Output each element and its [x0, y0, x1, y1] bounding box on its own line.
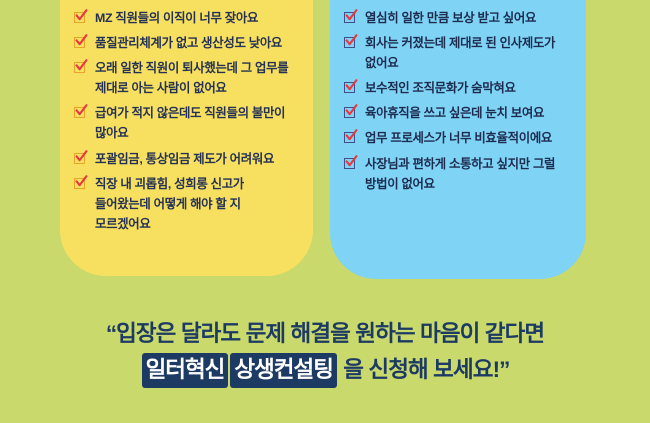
employee-concerns-panel: 열심히 일한 만큼 보상 받고 싶어요 회사는 커졌는데 제대로 된 인사제도가…: [330, 0, 586, 279]
quote-line-1: “입장은 달라도 문제 해결을 원하는 마음이 같다면: [0, 318, 650, 350]
list-item: 회사는 커졌는데 제대로 된 인사제도가 없어요: [344, 33, 572, 73]
checkbox-checked-icon: [74, 61, 88, 75]
quote-line-2-text: 을 신청해 보세요!: [343, 357, 499, 382]
program-name-highlight-2: 상생컨설팅: [230, 353, 337, 388]
list-item: 업무 프로세스가 너무 비효율적이에요: [344, 128, 572, 148]
employee-concerns-list: 열심히 일한 만큼 보상 받고 싶어요 회사는 커졌는데 제대로 된 인사제도가…: [344, 8, 572, 194]
checkbox-checked-icon: [344, 131, 358, 145]
list-item: 열심히 일한 만큼 보상 받고 싶어요: [344, 8, 572, 28]
list-item: MZ 직원들의 이직이 너무 잦아요: [74, 8, 299, 28]
employer-concerns-panel: MZ 직원들의 이직이 너무 잦아요 품질관리체계가 없고 생산성도 낮아요 오…: [60, 0, 313, 276]
program-name-highlight-1: 일터혁신: [142, 353, 229, 388]
list-item-label: 업무 프로세스가 너무 비효율적이에요: [365, 128, 552, 148]
list-item-label: 회사는 커졌는데 제대로 된 인사제도가 없어요: [365, 33, 572, 73]
list-item-label: 직장 내 괴롭힘, 성희롱 신고가 들어왔는데 어떻게 해야 할 지 모르겠어요: [95, 174, 299, 234]
list-item: 급여가 적지 않은데도 직원들의 불만이 많아요: [74, 103, 299, 143]
list-item-label: 육아휴직을 쓰고 싶은데 눈치 보여요: [365, 103, 544, 123]
checkbox-checked-icon: [344, 81, 358, 95]
checkbox-checked-icon: [344, 36, 358, 50]
list-item-label: 품질관리체계가 없고 생산성도 낮아요: [95, 33, 282, 53]
list-item-label: 열심히 일한 만큼 보상 받고 싶어요: [365, 8, 536, 28]
panels-container: MZ 직원들의 이직이 너무 잦아요 품질관리체계가 없고 생산성도 낮아요 오…: [0, 0, 650, 285]
checkbox-checked-icon: [74, 106, 88, 120]
quote-line-1-text: 입장은 달라도 문제 해결을 원하는 마음이 같다면: [116, 321, 544, 346]
list-item-label: MZ 직원들의 이직이 너무 잦아요: [95, 8, 258, 28]
list-item: 사장님과 편하게 소통하고 싶지만 그럴 방법이 없어요: [344, 154, 572, 194]
list-item: 오래 일한 직원이 퇴사했는데 그 업무를 제대로 아는 사람이 없어요: [74, 58, 299, 98]
checkbox-checked-icon: [74, 36, 88, 50]
list-item: 직장 내 괴롭힘, 성희롱 신고가 들어왔는데 어떻게 해야 할 지 모르겠어요: [74, 174, 299, 234]
list-item-label: 포괄임금, 통상임금 제도가 어려워요: [95, 149, 274, 169]
checkbox-checked-icon: [74, 177, 88, 191]
list-item: 보수적인 조직문화가 숨막혀요: [344, 78, 572, 98]
quote-line-2: 일터혁신상생컨설팅 을 신청해 보세요!”: [0, 353, 650, 388]
list-item-label: 보수적인 조직문화가 숨막혀요: [365, 78, 516, 98]
checkbox-checked-icon: [344, 106, 358, 120]
checkbox-checked-icon: [344, 11, 358, 25]
list-item-label: 급여가 적지 않은데도 직원들의 불만이 많아요: [95, 103, 299, 143]
checkbox-checked-icon: [74, 152, 88, 166]
checkbox-checked-icon: [74, 11, 88, 25]
call-to-action-quote: “입장은 달라도 문제 해결을 원하는 마음이 같다면 일터혁신상생컨설팅 을 …: [0, 318, 650, 388]
list-item: 포괄임금, 통상임금 제도가 어려워요: [74, 149, 299, 169]
quote-open-mark: “: [106, 321, 116, 346]
list-item: 육아휴직을 쓰고 싶은데 눈치 보여요: [344, 103, 572, 123]
list-item: 품질관리체계가 없고 생산성도 낮아요: [74, 33, 299, 53]
checkbox-checked-icon: [344, 157, 358, 171]
quote-close-mark: ”: [499, 357, 509, 382]
list-item-label: 오래 일한 직원이 퇴사했는데 그 업무를 제대로 아는 사람이 없어요: [95, 58, 299, 98]
employer-concerns-list: MZ 직원들의 이직이 너무 잦아요 품질관리체계가 없고 생산성도 낮아요 오…: [74, 8, 299, 234]
list-item-label: 사장님과 편하게 소통하고 싶지만 그럴 방법이 없어요: [365, 154, 572, 194]
